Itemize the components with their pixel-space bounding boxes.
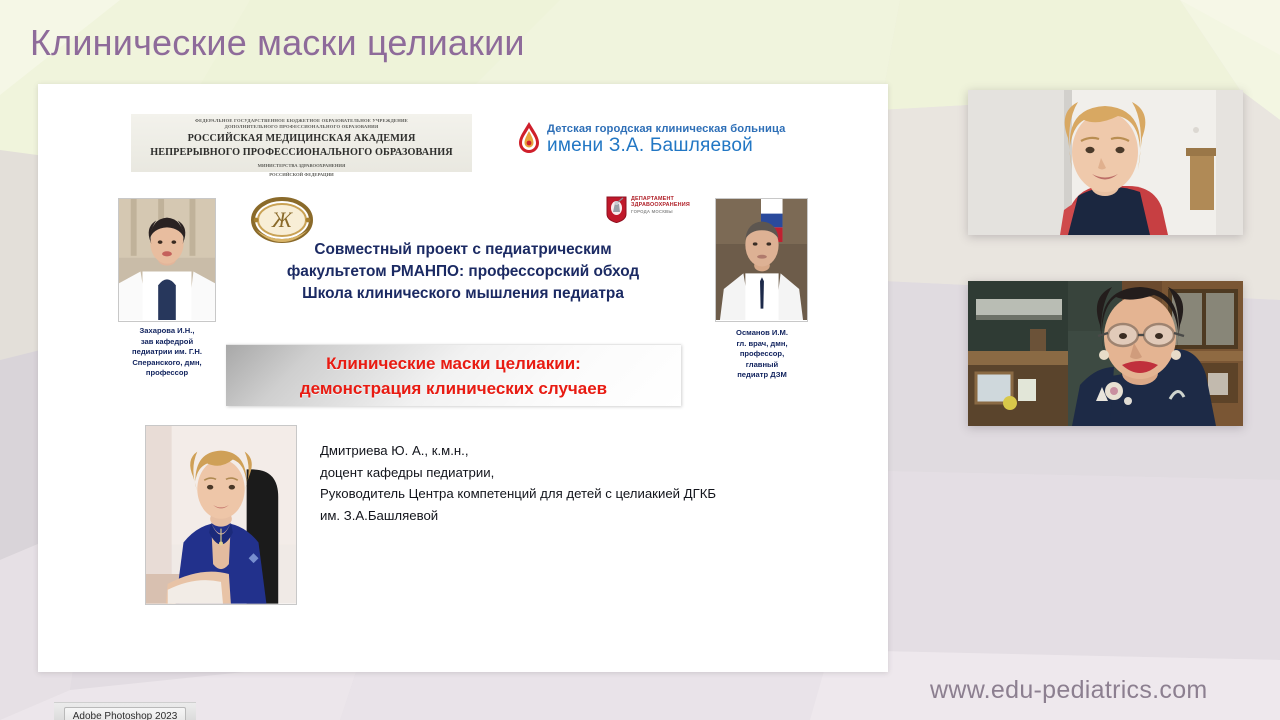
academy-line-small-3: МИНИСТЕРСТВА ЗДРАВООХРАНЕНИЯ [131,163,472,169]
svg-text:Ж: Ж [271,207,293,232]
caption-osmanov: Османов И.М. гл. врач, дмн, профессор, г… [706,328,818,381]
caption-osmanov-line-3: профессор, [706,349,818,360]
hospital-logo: Детская городская клиническая больница и… [518,120,785,155]
topic-banner-line-1: Клинические маски целиакии: [326,351,581,376]
heading-line-2: факультетом РМАНПО: профессорский обход [253,261,673,283]
speaker-line-4: им. З.А.Башляевой [320,505,800,527]
speaker-line-3: Руководитель Центра компетенций для дете… [320,483,800,505]
photo-dmitrieva [145,425,297,605]
dept-line-2: ЗДРАВООХРАНЕНИЯ [631,202,690,208]
caption-osmanov-line-2: гл. врач, дмн, [706,339,818,350]
academy-logo-banner: ФЕДЕРАЛЬНОЕ ГОСУДАРСТВЕННОЕ БЮДЖЕТНОЕ ОБ… [131,114,472,172]
photo-osmanov [715,198,808,322]
hospital-line-2: имени З.А. Башляевой [547,135,753,156]
heading-line-3: Школа клинического мышления педиатра [253,283,673,305]
website-url: www.edu-pediatrics.com [930,676,1208,705]
caption-zaharova-line-1: Захарова И.Н., [106,326,228,337]
caption-osmanov-line-4: главный [706,360,818,371]
caption-zaharova: Захарова И.Н., зав кафедрой педиатрии им… [106,326,228,379]
heading-line-1: Совместный проект с педиатрическим [253,239,673,261]
page-title: Клинические маски целиакии [30,22,525,64]
caption-zaharova-line-5: профессор [106,368,228,379]
participant-video-2-feed [968,281,1243,426]
speaker-line-1: Дмитриева Ю. А., к.м.н., [320,440,800,462]
caption-zaharova-line-3: педиатрии им. Г.Н. [106,347,228,358]
screen-root: Клинические маски целиакии ФЕДЕРАЛЬНОЕ Г… [0,0,1280,720]
hospital-line-1: Детская городская клиническая больница [547,123,785,135]
speaker-info: Дмитриева Ю. А., к.м.н., доцент кафедры … [320,440,800,526]
topic-banner-line-2: демонстрация клинических случаев [300,376,607,401]
dept-health-logo: ДЕПАРТАМЕНТ ЗДРАВООХРАНЕНИЯ ГОРОДА МОСКВ… [606,196,690,223]
photo-zaharova [118,198,216,322]
hospital-logo-text: Детская городская клиническая больница и… [547,120,785,155]
caption-zaharova-line-2: зав кафедрой [106,337,228,348]
caption-osmanov-line-5: педиатр ДЗМ [706,370,818,381]
presentation-slide[interactable]: ФЕДЕРАЛЬНОЕ ГОСУДАРСТВЕННОЕ БЮДЖЕТНОЕ ОБ… [38,84,888,672]
slide-main-heading: Совместный проект с педиатрическим факул… [253,239,673,305]
academy-line-small-2: ДОПОЛНИТЕЛЬНОГО ПРОФЕССИОНАЛЬНОГО ОБРАЗО… [131,124,472,130]
blood-drop-icon [518,121,540,155]
academy-line-big-1: РОССИЙСКАЯ МЕДИЦИНСКАЯ АКАДЕМИЯ [131,133,472,146]
caption-osmanov-line-1: Османов И.М. [706,328,818,339]
speaker-line-2: доцент кафедры педиатрии, [320,462,800,484]
participant-video-2[interactable] [968,281,1243,426]
dept-line-3: ГОРОДА МОСКВЫ [631,210,690,215]
dept-logo-text: ДЕПАРТАМЕНТ ЗДРАВООХРАНЕНИЯ ГОРОДА МОСКВ… [631,196,690,215]
caption-zaharova-line-4: Сперанского, дмн, [106,358,228,369]
academy-line-small-4: РОССИЙСКОЙ ФЕДЕРАЦИИ [131,172,472,178]
participant-video-1-feed [968,90,1243,235]
topic-banner: Клинические маски целиакии: демонстрация… [226,344,681,406]
participant-video-1[interactable] [968,90,1243,235]
taskbar-item-photoshop[interactable]: Adobe Photoshop 2023 [64,707,186,720]
moscow-coat-of-arms-icon [606,196,627,223]
academy-line-big-2: НЕПРЕРЫВНОГО ПРОФЕССИОНАЛЬНОГО ОБРАЗОВАН… [131,147,472,160]
